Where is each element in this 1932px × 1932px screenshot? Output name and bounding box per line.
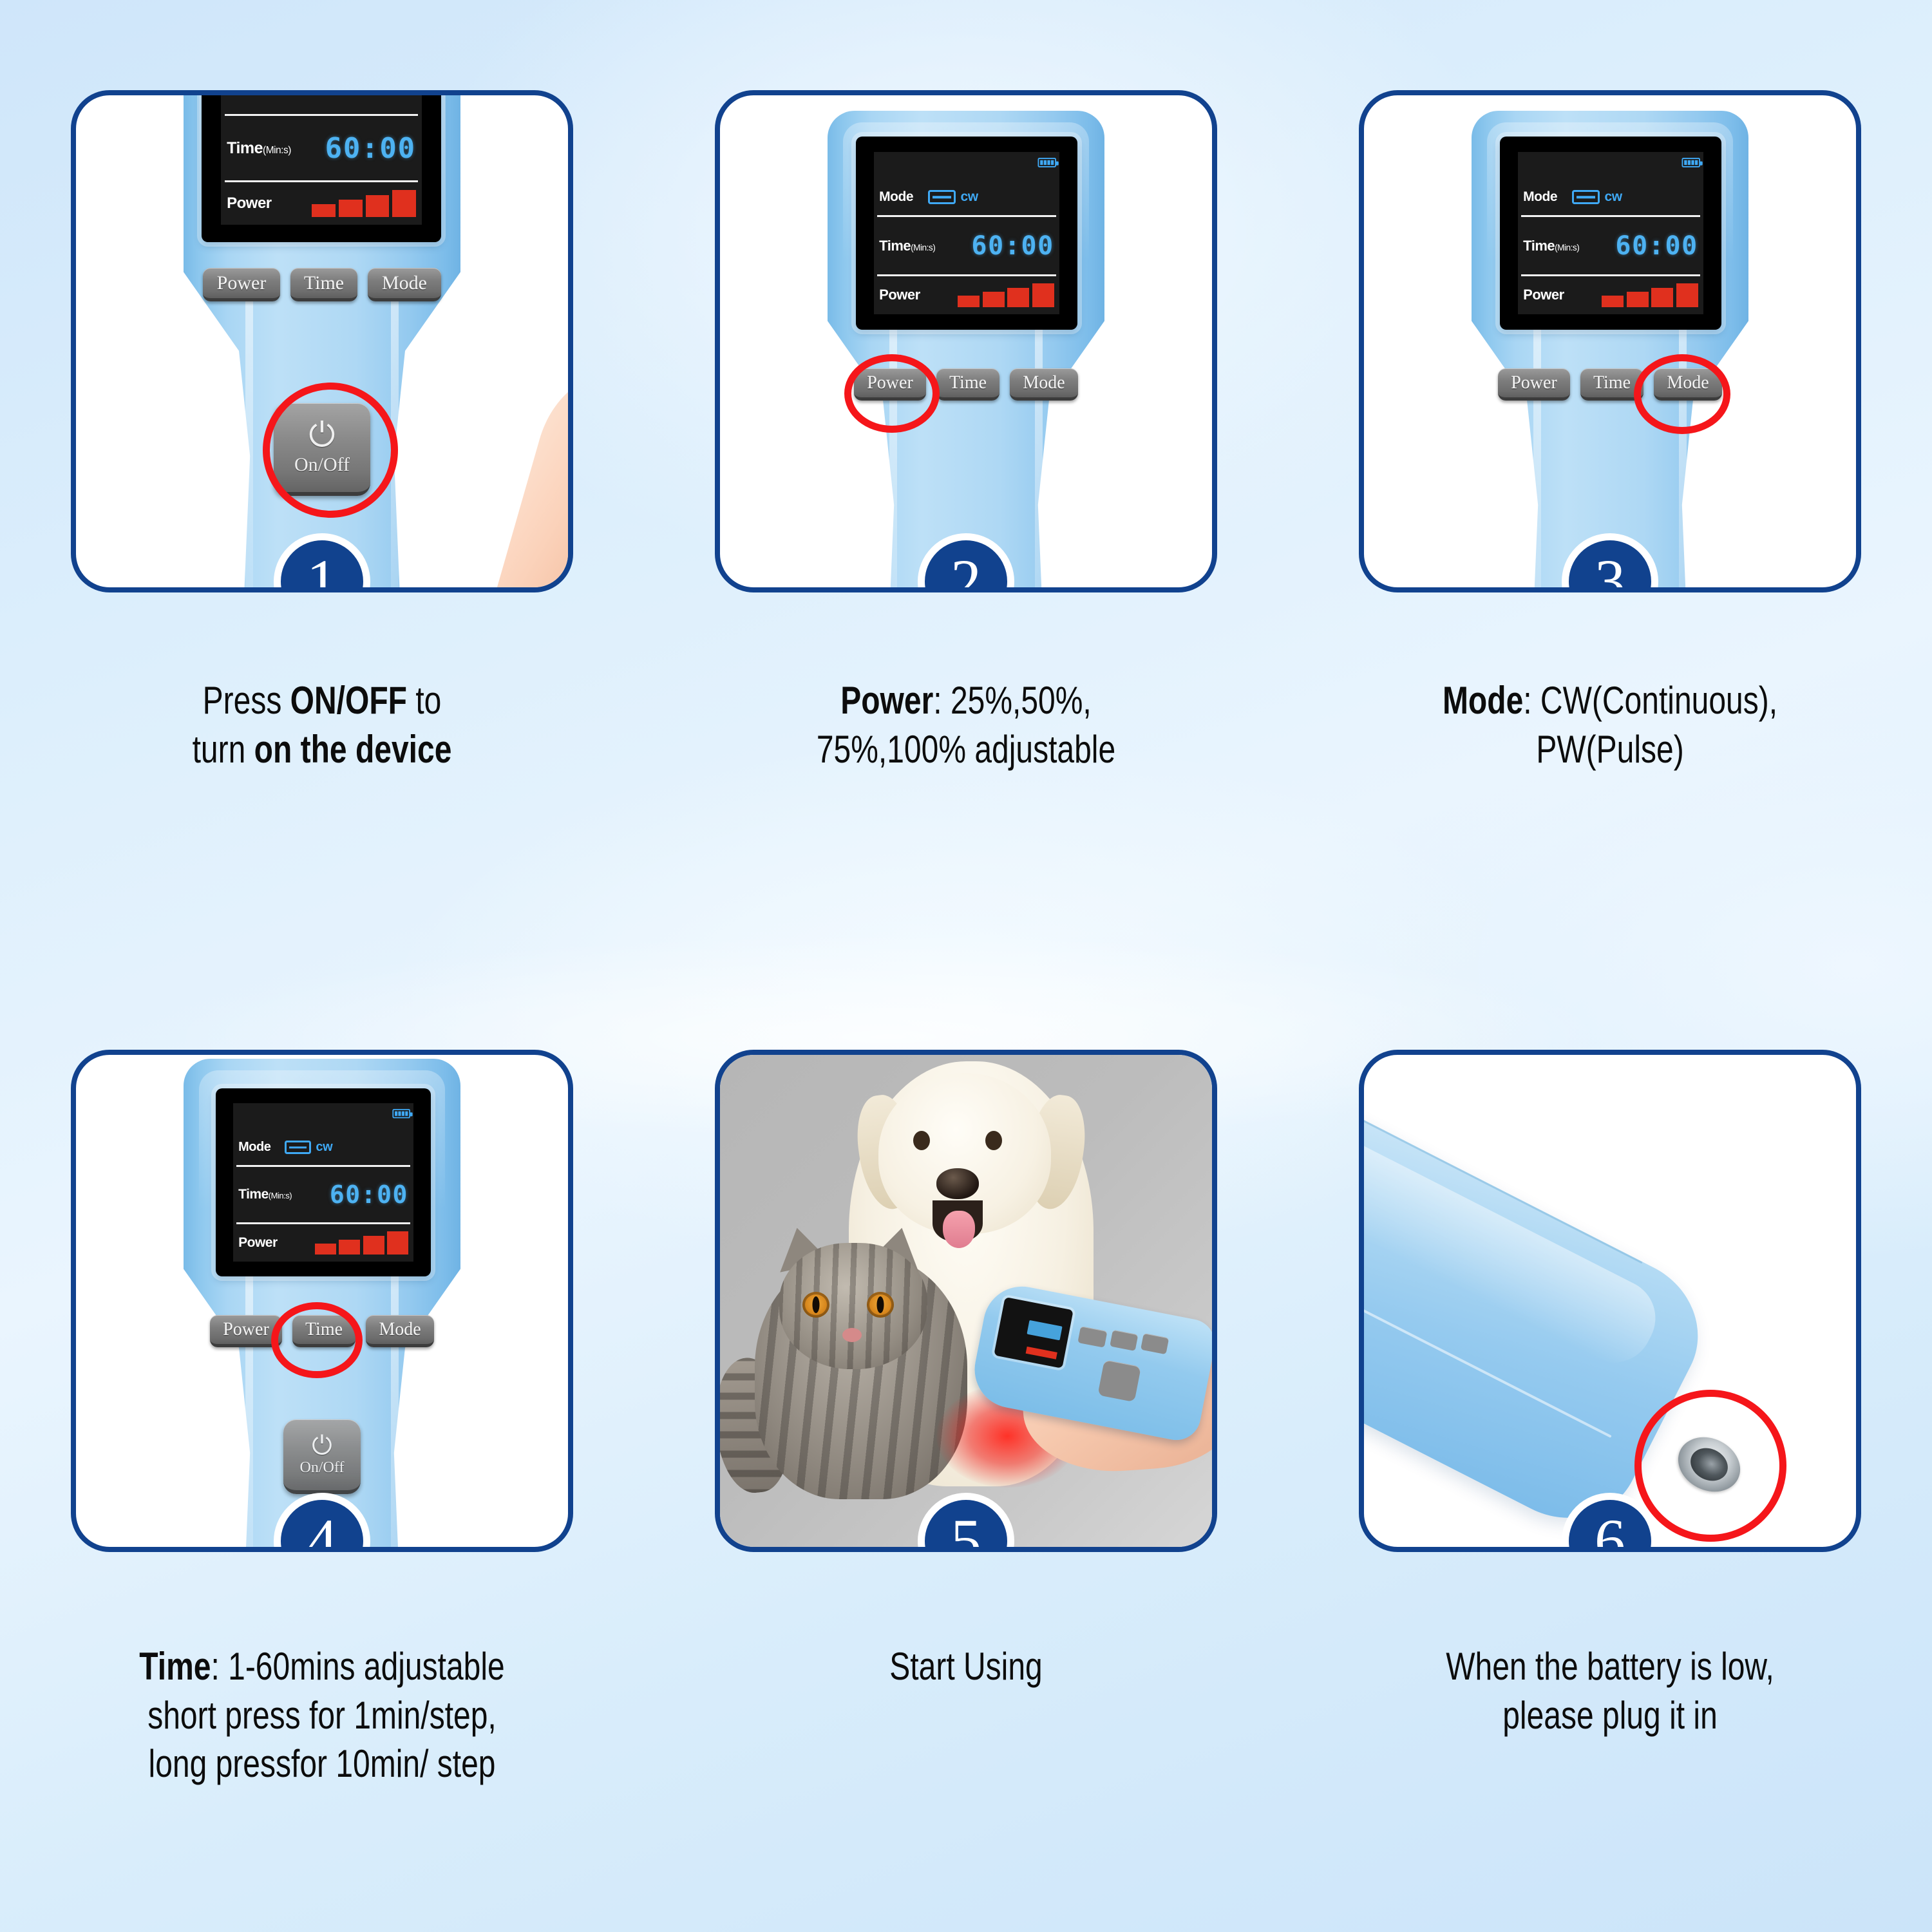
dog-nose [936, 1168, 979, 1199]
onoff-button[interactable]: ⏻ On/Off [283, 1419, 361, 1494]
lcd-power-label: Power [238, 1235, 278, 1251]
caption-line: short press for 1min/step, [85, 1691, 559, 1740]
power-button[interactable]: Power [203, 268, 280, 301]
lcd-time-label: Time(Min:s) [227, 139, 291, 158]
dog-eye-left [913, 1131, 930, 1150]
power-bar [363, 1236, 384, 1255]
mode-button[interactable]: Mode [368, 268, 441, 301]
power-bar [387, 1231, 408, 1255]
mode-button-small[interactable] [1141, 1333, 1169, 1354]
lcd-power-bars [312, 190, 416, 216]
cw-waveform-icon [1572, 190, 1600, 204]
time-button[interactable]: Time [936, 368, 999, 401]
lcd-time-value: 60:00 [330, 1180, 408, 1209]
caption-line: turn on the device [85, 725, 559, 774]
lcd-power-bars [958, 283, 1054, 307]
power-bar [1627, 292, 1649, 307]
lcd-battery-row [1518, 152, 1704, 179]
lcd-power-row: Power [233, 1224, 414, 1261]
dog-eye-right [985, 1131, 1002, 1150]
step-caption-6: When the battery is low, please plug it … [1373, 1642, 1847, 1739]
lcd-screen-4: Mode cw Time(Min:s) 60:00 Power [216, 1088, 431, 1276]
power-bar [1651, 288, 1673, 307]
lcd-time-value: 60:00 [325, 132, 416, 165]
power-bar [366, 195, 390, 217]
step-caption-4: Time: 1-60mins adjustable short press fo… [85, 1642, 559, 1788]
step-caption-3: Mode: CW(Continuous), PW(Pulse) [1373, 676, 1847, 773]
highlight-circle-mode [1634, 354, 1730, 434]
lcd-time-value: 60:00 [971, 231, 1054, 261]
time-button[interactable]: Time [290, 268, 357, 301]
power-bar [312, 204, 336, 217]
lcd-time-label: Time(Min:s) [1523, 238, 1579, 254]
device-highlight-right [391, 1271, 399, 1552]
lcd-time-row: Time(Min:s) 60:00 [874, 217, 1060, 274]
onoff-button-label: On/Off [300, 1459, 345, 1477]
lcd-battery-row [874, 152, 1060, 179]
device-illustration-4: Mode cw Time(Min:s) 60:00 Power [184, 1059, 460, 1552]
lcd-mode-row: Mode cw [1518, 179, 1704, 216]
lcd-mode-row: Mode cw [874, 179, 1060, 216]
lcd-mode-row [221, 90, 422, 114]
power-bar [1032, 283, 1054, 307]
lcd-screen-2: Mode cw Time(Min:s) 60:00 Power [856, 137, 1077, 330]
lcd-inner: Time(Min:s) 60:00 Power [221, 90, 422, 225]
power-bar [1007, 288, 1029, 307]
lcd-time-label: Time(Min:s) [238, 1187, 292, 1202]
lcd-mode-label: Mode [238, 1140, 270, 1155]
battery-full-icon [1037, 158, 1056, 167]
power-bar [958, 296, 980, 307]
caption-line: Mode: CW(Continuous), [1373, 676, 1847, 725]
steps-grid: Time(Min:s) 60:00 Power [0, 0, 1932, 1932]
step-cell-4: Mode cw Time(Min:s) 60:00 Power [0, 979, 644, 1932]
lcd-mode-label: Mode [1523, 189, 1557, 205]
lcd-mode-row: Mode cw [233, 1130, 414, 1165]
lcd-power-label: Power [879, 287, 920, 303]
battery-full-icon [392, 1109, 410, 1118]
cw-waveform-icon [285, 1141, 311, 1154]
lcd-time-row: Time(Min:s) 60:00 [1518, 217, 1704, 274]
highlight-circle-charging-port [1634, 1390, 1786, 1542]
lcd-inner: Mode cw Time(Min:s) 60:00 Power [874, 152, 1060, 314]
caption-line: 75%,100% adjustable [729, 725, 1203, 774]
step-cell-3: Mode cw Time(Min:s) 60:00 Power [1288, 0, 1932, 979]
lcd-time-value: 60:00 [1615, 231, 1698, 261]
caption-line: Time: 1-60mins adjustable [85, 1642, 559, 1691]
caption-line: please plug it in [1373, 1691, 1847, 1740]
step-caption-1: Press ON/OFF to turn on the device [85, 676, 559, 773]
lcd-inner: Mode cw Time(Min:s) 60:00 Power [233, 1103, 414, 1261]
pet-treatment-photo [720, 1055, 1212, 1547]
lcd-mode-value: cw [1604, 189, 1622, 205]
power-symbol-icon: ⏻ [312, 1433, 332, 1459]
step-panel-3: Mode cw Time(Min:s) 60:00 Power [1359, 90, 1861, 592]
power-button[interactable]: Power [1498, 368, 1570, 401]
cat-eye-left [802, 1292, 829, 1318]
device-illustration-2: Mode cw Time(Min:s) 60:00 Power [828, 111, 1104, 592]
cat-head [779, 1243, 927, 1369]
step-panel-4: Mode cw Time(Min:s) 60:00 Power [71, 1050, 573, 1552]
device-highlight-left [245, 274, 253, 592]
pointing-finger [479, 359, 573, 592]
onoff-button-small[interactable] [1097, 1359, 1141, 1402]
lcd-inner: Mode cw Time(Min:s) 60:00 Power [1518, 152, 1704, 314]
fingernail [563, 388, 573, 477]
battery-full-icon [1681, 158, 1700, 167]
step-panel-2: Mode cw Time(Min:s) 60:00 Power [715, 90, 1217, 592]
highlight-circle-power [844, 354, 940, 433]
power-bar [1602, 296, 1624, 307]
power-bar [339, 1240, 360, 1255]
power-bar [339, 200, 363, 216]
cat-nose [842, 1328, 862, 1342]
mode-button[interactable]: Mode [1010, 368, 1078, 401]
lcd-screen-3: Mode cw Time(Min:s) 60:00 Power [1500, 137, 1721, 330]
step-panel-6: 6 [1359, 1050, 1861, 1552]
lcd-time-row: Time(Min:s) 60:00 [221, 116, 422, 180]
cw-waveform-icon [928, 190, 956, 204]
highlight-circle-onoff [263, 383, 398, 518]
caption-line: Power: 25%,50%, [729, 676, 1203, 725]
device-highlight-right [1035, 323, 1043, 592]
caption-line: Press ON/OFF to [85, 676, 559, 725]
device-highlight-left [245, 1271, 253, 1552]
device-highlight [1359, 1114, 1669, 1376]
power-bar [315, 1244, 336, 1255]
power-bar [983, 292, 1005, 307]
caption-line: PW(Pulse) [1373, 725, 1847, 774]
lcd-time-label: Time(Min:s) [879, 238, 935, 254]
device-illustration-3: Mode cw Time(Min:s) 60:00 Power [1472, 111, 1748, 592]
highlight-circle-time [271, 1302, 363, 1378]
step-panel-1: Time(Min:s) 60:00 Power [71, 90, 573, 592]
step-cell-1: Time(Min:s) 60:00 Power [0, 0, 644, 979]
device-lcd-small [994, 1297, 1074, 1368]
lcd-mode-value: cw [316, 1140, 332, 1155]
lcd-power-row: Power [874, 276, 1060, 314]
cat-eye-right [867, 1292, 894, 1318]
power-bar [1676, 283, 1698, 307]
dog-tongue [943, 1211, 975, 1248]
lcd-battery-row [233, 1103, 414, 1130]
button-row-1: Power Time Mode [203, 268, 441, 301]
caption-line: When the battery is low, [1373, 1642, 1847, 1691]
device-highlight-left [1533, 323, 1541, 592]
lcd-screen-1: Time(Min:s) 60:00 Power [202, 90, 441, 242]
lcd-mode-label: Mode [879, 189, 913, 205]
lcd-mode-value: cw [960, 189, 978, 205]
lcd-power-row: Power [221, 182, 422, 225]
power-bar [392, 190, 416, 216]
lcd-power-bars [1602, 283, 1698, 307]
time-button-small[interactable] [1110, 1330, 1138, 1351]
mode-button[interactable]: Mode [366, 1315, 434, 1347]
step-caption-5: Start Using [729, 1642, 1203, 1691]
lcd-power-label: Power [1523, 287, 1564, 303]
lcd-power-label: Power [227, 194, 272, 213]
caption-line: Start Using [729, 1642, 1203, 1691]
lcd-power-bars [315, 1231, 408, 1255]
step-caption-2: Power: 25%,50%, 75%,100% adjustable [729, 676, 1203, 773]
lcd-time-row: Time(Min:s) 60:00 [233, 1167, 414, 1222]
step-cell-5: 5 Start Using [644, 979, 1288, 1932]
step-cell-2: Mode cw Time(Min:s) 60:00 Power [644, 0, 1288, 979]
device-illustration-1: Time(Min:s) 60:00 Power [184, 90, 460, 592]
power-button-small[interactable] [1077, 1326, 1107, 1348]
lcd-power-row: Power [1518, 276, 1704, 314]
step-cell-6: 6 When the battery is low, please plug i… [1288, 979, 1932, 1932]
step-panel-5: 5 [715, 1050, 1217, 1552]
caption-line: long pressfor 10min/ step [85, 1739, 559, 1788]
